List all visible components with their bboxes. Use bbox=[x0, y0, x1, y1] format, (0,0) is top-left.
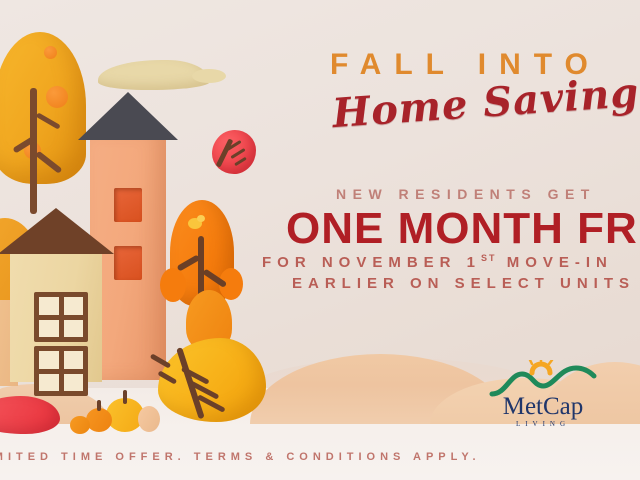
gourd-icon bbox=[138, 406, 160, 432]
offer-detail-suffix: MOVE-IN bbox=[497, 254, 613, 271]
tree-fruit-dot bbox=[46, 86, 68, 108]
tree-accent-dot bbox=[197, 215, 205, 222]
fall-promo-banner: FALL INTO Home Savings! NEW RESIDENTS GE… bbox=[0, 0, 640, 480]
pumpkin-icon bbox=[70, 416, 90, 434]
offer-kicker: NEW RESIDENTS GET bbox=[336, 186, 596, 202]
offer-detail-line-2: EARLIER ON SELECT UNITS bbox=[292, 275, 635, 292]
offer-detail-line-1: FOR NOVEMBER 1ST MOVE-IN bbox=[262, 253, 613, 271]
logo-wordmark: MetCap bbox=[488, 394, 598, 419]
tall-house-roof bbox=[78, 92, 178, 140]
pumpkin-stem bbox=[97, 400, 101, 411]
offer-detail-prefix: FOR NOVEMBER 1 bbox=[262, 254, 481, 271]
offer-headline: ONE MONTH FREE bbox=[286, 204, 640, 254]
house-window-pane bbox=[34, 292, 88, 342]
logo-tagline: LIVING bbox=[488, 420, 598, 428]
tree-fruit-dot bbox=[44, 46, 57, 59]
tree-trunk bbox=[30, 88, 37, 214]
red-leaf-icon bbox=[212, 130, 256, 174]
ordinal-suffix: ST bbox=[481, 253, 497, 263]
cream-house-roof bbox=[0, 208, 114, 254]
pumpkin-stem bbox=[123, 390, 127, 404]
terms-and-conditions: LIMITED TIME OFFER. TERMS & CONDITIONS A… bbox=[0, 451, 481, 463]
house-window-pane bbox=[34, 346, 88, 396]
pumpkin-icon bbox=[86, 408, 112, 432]
house-window bbox=[114, 188, 142, 222]
metcap-logo[interactable]: MetCap LIVING bbox=[488, 360, 598, 438]
house-window bbox=[114, 246, 142, 280]
cloud-blob-icon bbox=[98, 60, 210, 90]
